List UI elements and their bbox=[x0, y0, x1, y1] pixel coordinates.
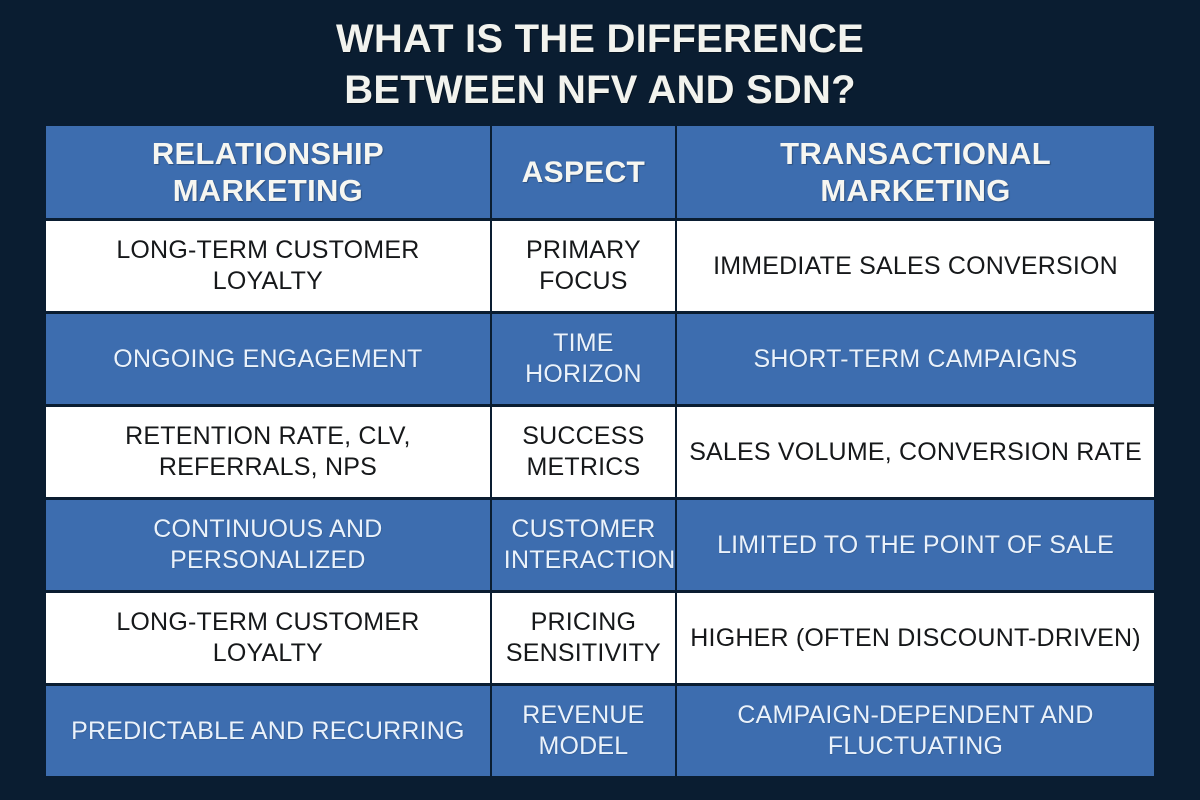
column-header-transactional-marketing: TRANSACTIONAL MARKETING bbox=[677, 126, 1154, 218]
column-header-relationship-marketing: RELATIONSHIP MARKETING bbox=[46, 126, 490, 218]
cell-text: PRIMARY FOCUS bbox=[504, 235, 663, 297]
cell-relationship-revenue-model: PREDICTABLE AND RECURRING bbox=[46, 686, 490, 776]
cell-text: REVENUE MODEL bbox=[504, 700, 663, 762]
cell-relationship-pricing-sensitivity: LONG-TERM CUSTOMER LOYALTY bbox=[46, 593, 490, 683]
cell-text: LIMITED TO THE POINT OF SALE bbox=[689, 530, 1142, 561]
cell-text: CAMPAIGN-DEPENDENT AND FLUCTUATING bbox=[689, 700, 1142, 762]
infographic-poster: WHAT IS THE DIFFERENCE BETWEEN NFV AND S… bbox=[0, 0, 1200, 800]
cell-aspect-time-horizon: TIME HORIZON bbox=[492, 314, 675, 404]
cell-text: IMMEDIATE SALES CONVERSION bbox=[689, 251, 1142, 282]
table-row: LONG-TERM CUSTOMER LOYALTY PRIMARY FOCUS… bbox=[46, 221, 1154, 311]
cell-text: LONG-TERM CUSTOMER LOYALTY bbox=[58, 235, 478, 297]
table-row: RETENTION RATE, CLV, REFERRALS, NPS SUCC… bbox=[46, 407, 1154, 497]
cell-text: PREDICTABLE AND RECURRING bbox=[58, 716, 478, 747]
cell-relationship-customer-interaction: CONTINUOUS AND PERSONALIZED bbox=[46, 500, 490, 590]
table-header-row: RELATIONSHIP MARKETING ASPECT TRANSACTIO… bbox=[46, 126, 1154, 218]
column-header-aspect: ASPECT bbox=[492, 126, 675, 218]
cell-text: ONGOING ENGAGEMENT bbox=[58, 344, 478, 375]
cell-text: SALES VOLUME, CONVERSION RATE bbox=[689, 437, 1142, 468]
title-line-2: BETWEEN NFV AND SDN? bbox=[0, 65, 1200, 116]
cell-transactional-success-metrics: SALES VOLUME, CONVERSION RATE bbox=[677, 407, 1154, 497]
table-body: LONG-TERM CUSTOMER LOYALTY PRIMARY FOCUS… bbox=[46, 221, 1154, 776]
table-row: CONTINUOUS AND PERSONALIZED CUSTOMER INT… bbox=[46, 500, 1154, 590]
cell-transactional-pricing-sensitivity: HIGHER (OFTEN DISCOUNT-DRIVEN) bbox=[677, 593, 1154, 683]
table-row: LONG-TERM CUSTOMER LOYALTY PRICING SENSI… bbox=[46, 593, 1154, 683]
comparison-table: RELATIONSHIP MARKETING ASPECT TRANSACTIO… bbox=[44, 123, 1156, 779]
cell-transactional-revenue-model: CAMPAIGN-DEPENDENT AND FLUCTUATING bbox=[677, 686, 1154, 776]
cell-aspect-pricing-sensitivity: PRICING SENSITIVITY bbox=[492, 593, 675, 683]
cell-transactional-customer-interaction: LIMITED TO THE POINT OF SALE bbox=[677, 500, 1154, 590]
cell-aspect-customer-interaction: CUSTOMER INTERACTION bbox=[492, 500, 675, 590]
cell-aspect-primary-focus: PRIMARY FOCUS bbox=[492, 221, 675, 311]
cell-aspect-success-metrics: SUCCESS METRICS bbox=[492, 407, 675, 497]
cell-text: CUSTOMER INTERACTION bbox=[504, 514, 663, 576]
title-line-1: WHAT IS THE DIFFERENCE bbox=[0, 14, 1200, 65]
cell-text: TIME HORIZON bbox=[504, 328, 663, 390]
cell-text: RETENTION RATE, CLV, REFERRALS, NPS bbox=[58, 421, 478, 483]
table-row: PREDICTABLE AND RECURRING REVENUE MODEL … bbox=[46, 686, 1154, 776]
cell-relationship-primary-focus: LONG-TERM CUSTOMER LOYALTY bbox=[46, 221, 490, 311]
cell-relationship-success-metrics: RETENTION RATE, CLV, REFERRALS, NPS bbox=[46, 407, 490, 497]
table-row: ONGOING ENGAGEMENT TIME HORIZON SHORT-TE… bbox=[46, 314, 1154, 404]
cell-transactional-primary-focus: IMMEDIATE SALES CONVERSION bbox=[677, 221, 1154, 311]
table-head: RELATIONSHIP MARKETING ASPECT TRANSACTIO… bbox=[46, 126, 1154, 218]
cell-transactional-time-horizon: SHORT-TERM CAMPAIGNS bbox=[677, 314, 1154, 404]
cell-text: LONG-TERM CUSTOMER LOYALTY bbox=[58, 607, 478, 669]
page-title: WHAT IS THE DIFFERENCE BETWEEN NFV AND S… bbox=[0, 0, 1200, 116]
cell-aspect-revenue-model: REVENUE MODEL bbox=[492, 686, 675, 776]
cell-text: PRICING SENSITIVITY bbox=[504, 607, 663, 669]
cell-text: SUCCESS METRICS bbox=[504, 421, 663, 483]
cell-text: CONTINUOUS AND PERSONALIZED bbox=[58, 514, 478, 576]
comparison-table-container: RELATIONSHIP MARKETING ASPECT TRANSACTIO… bbox=[44, 123, 1156, 768]
cell-text: SHORT-TERM CAMPAIGNS bbox=[689, 344, 1142, 375]
cell-text: HIGHER (OFTEN DISCOUNT-DRIVEN) bbox=[689, 623, 1142, 654]
cell-relationship-time-horizon: ONGOING ENGAGEMENT bbox=[46, 314, 490, 404]
